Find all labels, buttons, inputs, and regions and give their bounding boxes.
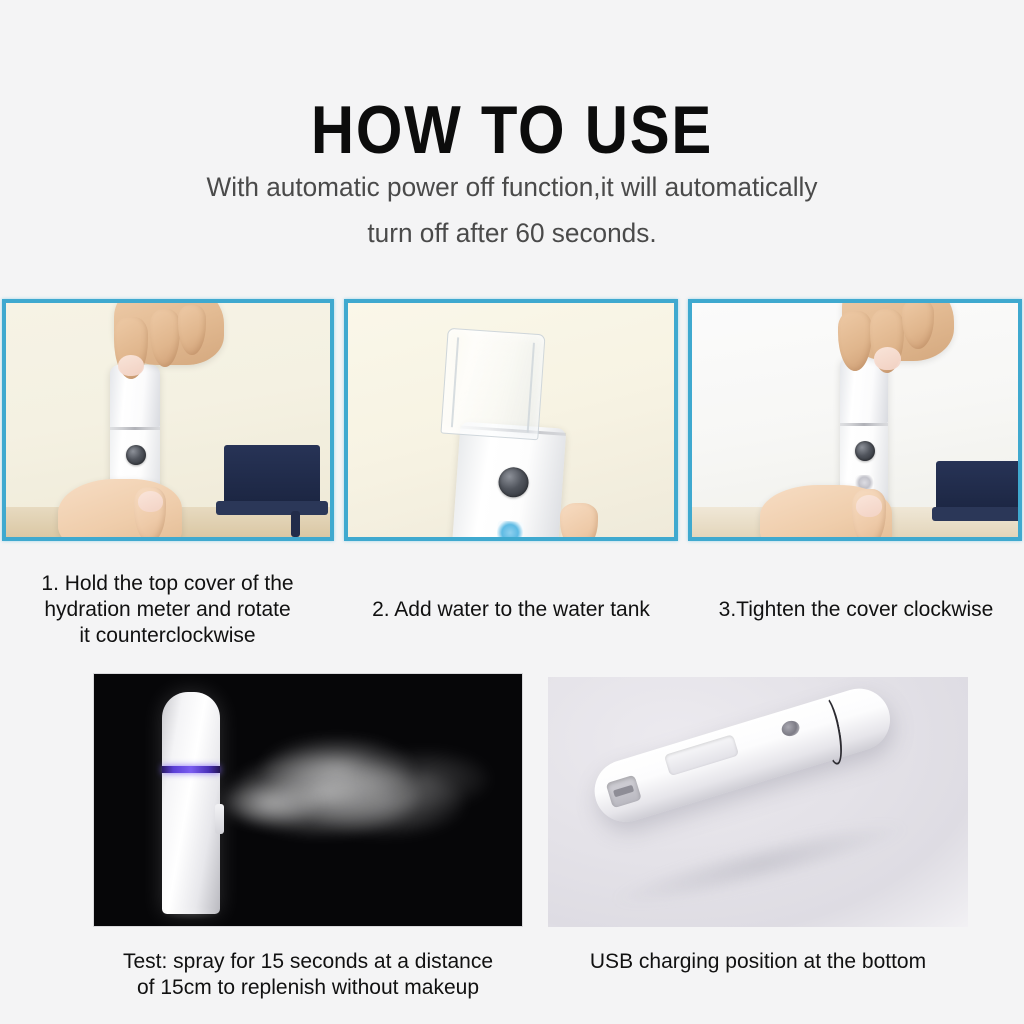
fingernail-index bbox=[118, 355, 144, 376]
power-button-icon bbox=[126, 445, 146, 465]
usb-charging-port bbox=[606, 775, 642, 809]
power-button-icon bbox=[498, 466, 530, 498]
hydration-meter-body bbox=[452, 421, 567, 537]
caption-line: 1. Hold the top cover of the bbox=[10, 571, 325, 597]
device-slot bbox=[664, 734, 739, 776]
device-shadow bbox=[610, 809, 910, 918]
caption-line: of 15cm to replenish without makeup bbox=[96, 975, 520, 1001]
photo-scene-3 bbox=[692, 303, 1018, 537]
captions-row-bottom: Test: spray for 15 seconds at a distance… bbox=[0, 949, 1024, 1019]
captions-row-top: 1. Hold the top cover of the hydration m… bbox=[0, 571, 1024, 661]
tank-wall-line-right bbox=[527, 343, 535, 433]
steps-row-top bbox=[0, 299, 1024, 541]
mist-cloud bbox=[360, 750, 490, 808]
step-2-caption: 2. Add water to the water tank bbox=[344, 597, 678, 623]
step-3-caption: 3.Tighten the cover clockwise bbox=[690, 597, 1022, 623]
caption-line: Test: spray for 15 seconds at a distance bbox=[96, 949, 520, 975]
step-5-caption: USB charging position at the bottom bbox=[548, 949, 968, 975]
water-tank-transparent bbox=[440, 328, 545, 441]
fingernail-middle bbox=[874, 347, 901, 370]
device-seam-ring bbox=[815, 694, 846, 766]
subtitle-line-2: turn off after 60 seconds. bbox=[15, 210, 1008, 256]
step-5-image bbox=[548, 677, 968, 927]
device-reflection bbox=[160, 906, 222, 920]
step-3-image bbox=[688, 299, 1022, 541]
page-subtitle: With automatic power off function,it wil… bbox=[0, 164, 1024, 256]
spray-nozzle-icon bbox=[780, 719, 802, 739]
power-button-icon bbox=[855, 441, 875, 461]
step-1-caption: 1. Hold the top cover of the hydration m… bbox=[10, 571, 325, 649]
device-seam bbox=[840, 423, 888, 426]
step-4-image bbox=[94, 674, 522, 926]
device-seam bbox=[110, 427, 160, 430]
mister-device bbox=[162, 692, 220, 914]
tank-wall-line-left bbox=[451, 337, 459, 427]
caption-line: 2. Add water to the water tank bbox=[344, 597, 678, 623]
caption-line: it counterclockwise bbox=[10, 623, 325, 649]
fingernail-lower-thumb bbox=[138, 491, 163, 512]
caption-line: hydration meter and rotate bbox=[10, 597, 325, 623]
mist-cloud bbox=[222, 782, 318, 826]
chair-seat bbox=[216, 501, 328, 515]
step-1-image bbox=[2, 299, 334, 541]
page-title: HOW TO USE bbox=[61, 93, 962, 167]
finger-thumb bbox=[560, 503, 598, 537]
photo-scene-1 bbox=[6, 303, 330, 537]
subtitle-line-1: With automatic power off function,it wil… bbox=[15, 164, 1008, 210]
blue-indicator-icon bbox=[496, 520, 524, 537]
mister-device-usb-view bbox=[587, 681, 898, 830]
fingernail-lower-thumb bbox=[856, 495, 882, 517]
caption-line: USB charging position at the bottom bbox=[548, 949, 968, 975]
steps-row-bottom bbox=[0, 674, 1024, 928]
led-ring-indicator bbox=[162, 766, 220, 773]
caption-line: 3.Tighten the cover clockwise bbox=[690, 597, 1022, 623]
step-2-image bbox=[344, 299, 678, 541]
chair-seat bbox=[932, 507, 1018, 521]
photo-scene-2 bbox=[348, 303, 674, 537]
chair-leg bbox=[291, 511, 300, 537]
chair-back bbox=[224, 445, 320, 507]
step-4-caption: Test: spray for 15 seconds at a distance… bbox=[96, 949, 520, 1001]
